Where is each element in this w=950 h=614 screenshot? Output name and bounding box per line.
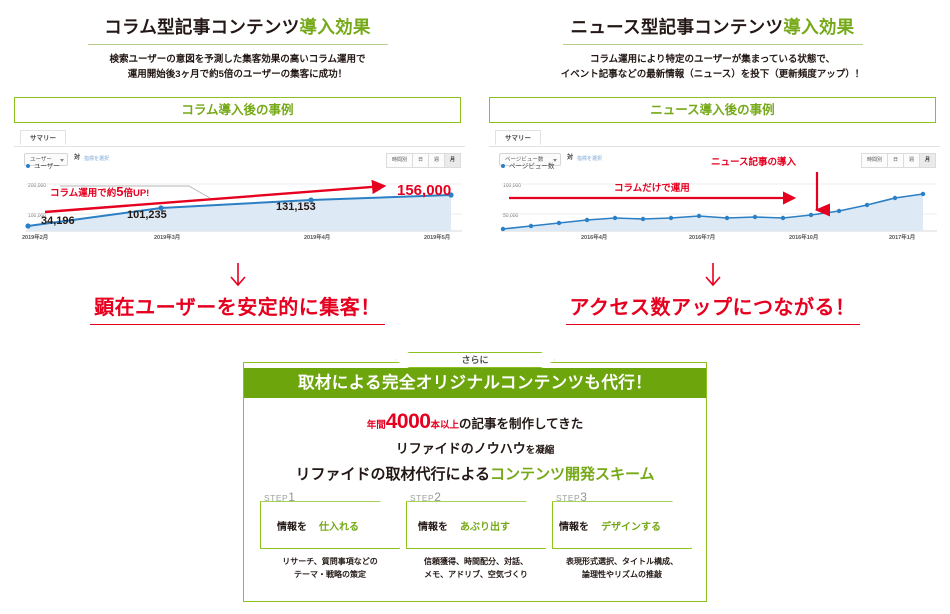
step-3-title: 情報をデザインする <box>559 518 673 533</box>
step-3-desc-line1: 表現形式選択、タイトル構成、 <box>552 556 692 569</box>
section-title-main: コラム型記事コンテンツ <box>104 17 299 37</box>
step-3-desc-line2: 論理性やリズムの推敲 <box>552 569 692 582</box>
block-body: 年間4000本以上の記事を制作してきた リファイドのノウハウを凝縮 リファイドの… <box>244 398 706 600</box>
chevron-down-icon <box>60 159 64 162</box>
line2-main: リファイドのノウハウ <box>396 441 526 456</box>
analytics-widget-left: サマリー ユーザー 対 指標を選択 時間別 日 週 月 ユーザー 200,000… <box>14 130 465 255</box>
segment-week[interactable]: 週 <box>904 153 920 168</box>
data-label-mar: 101,235 <box>127 209 167 221</box>
x-tick-1: 2016年7月 <box>689 233 715 241</box>
vs-label: 対 <box>74 152 80 161</box>
ribbon-label: さらに <box>395 352 555 368</box>
section-title-main: ニュース型記事コンテンツ <box>571 17 784 37</box>
step-1: STEP1 情報を仕入れる リサーチ、質問事項などの テーマ・戦略の策定 <box>260 490 400 582</box>
step-2-box: 情報をあぶり出す <box>406 501 546 549</box>
step-2-title-plain: 情報を <box>418 522 448 533</box>
data-label-feb: 34,196 <box>41 215 75 227</box>
line1-number: 4000 <box>386 410 431 433</box>
title-divider <box>88 44 388 45</box>
conclusion-right: アクセス数アップにつながる！ <box>475 262 950 325</box>
step-1-desc-line2: テーマ・戦略の策定 <box>260 569 400 582</box>
chart-end-value-left: 156,000 <box>397 182 451 199</box>
block-line-2: リファイドのノウハウを凝縮 <box>256 438 694 457</box>
lead-line-1: コラム運用により特定のユーザーが集まっている状態で、 <box>475 53 950 68</box>
metric-compare-link[interactable]: 指標を選択 <box>577 155 602 162</box>
segment-hourly[interactable]: 時間別 <box>861 153 888 168</box>
lead-line-2: イベント記事などの最新情報（ニュース）を投下（更新頻度アップ）！ <box>475 68 950 83</box>
segment-month[interactable]: 月 <box>920 153 936 168</box>
step-2-desc: 信頼獲得、時間配分、対話、 メモ、アドリブ、空気づくり <box>406 556 546 582</box>
step-3-number-label: STEP3 <box>552 490 692 501</box>
step-2-title-accent: あぶり出す <box>460 522 510 533</box>
step-1-title: 情報を仕入れる <box>277 518 371 533</box>
line1-pre: 年間 <box>367 420 386 431</box>
segment-month[interactable]: 月 <box>445 153 461 168</box>
step-1-box: 情報を仕入れる <box>260 501 400 549</box>
line-chart-left <box>14 168 465 232</box>
panel-column-article: コラム型記事コンテンツ導入効果 検索ユーザーの意図を予測した集客効果の高いコラム… <box>0 0 475 352</box>
step-3-title-plain: 情報を <box>559 522 589 533</box>
conclusion-left: 顕在ユーザーを安定的に集客！ <box>0 262 475 325</box>
step-3-box: 情報をデザインする <box>552 501 692 549</box>
analytics-tabbar: サマリー <box>14 130 465 147</box>
case-box-left: コラム導入後の事例 <box>14 97 461 123</box>
block-line-3: リファイドの取材代行によるコンテンツ開発スキーム <box>256 463 694 484</box>
step-1-number-label: STEP1 <box>260 490 400 501</box>
x-tick-0: 2019年2月 <box>22 233 48 241</box>
case-box-right: ニュース導入後の事例 <box>489 97 936 123</box>
panel-news-article: ニュース型記事コンテンツ導入効果 コラム運用により特定のユーザーが集まっている状… <box>475 0 950 352</box>
segment-day[interactable]: 日 <box>888 153 904 168</box>
page-title-left: コラム型記事コンテンツ導入効果 <box>0 14 475 39</box>
steps-container: STEP1 情報を仕入れる リサーチ、質問事項などの テーマ・戦略の策定 STE… <box>256 490 694 600</box>
annotation-text-pre: コラム運用で約 <box>50 188 116 199</box>
step-1-title-accent: 仕入れる <box>319 522 359 533</box>
x-tick-2: 2016年10月 <box>789 233 818 241</box>
section-lead-right: コラム運用により特定のユーザーが集まっている状態で、 イベント記事などの最新情報… <box>475 53 950 82</box>
step-3: STEP3 情報をデザインする 表現形式選択、タイトル構成、 論理性やリズムの推… <box>552 490 692 582</box>
vs-label: 対 <box>567 152 573 161</box>
step-2-title: 情報をあぶり出す <box>418 518 522 533</box>
segment-day[interactable]: 日 <box>413 153 429 168</box>
section-title-accent: 導入効果 <box>300 17 371 37</box>
tab-summary[interactable]: サマリー <box>495 130 541 145</box>
step-1-title-plain: 情報を <box>277 522 307 533</box>
timerange-segment-group: 時間別 日 週 月 <box>861 153 936 168</box>
line1-post: の記事を制作してきた <box>459 417 583 431</box>
line-chart-right <box>489 168 940 232</box>
case-label-left: コラム導入後の事例 <box>15 98 460 122</box>
segment-hourly[interactable]: 時間別 <box>386 153 413 168</box>
down-arrow-icon <box>223 262 253 288</box>
chart-annotation-arrow-right: コラムだけで運用 <box>614 180 690 194</box>
x-tick-2: 2019年4月 <box>304 233 330 241</box>
line3-plain: リファイドの取材代行による <box>295 466 490 483</box>
lead-line-1: 検索ユーザーの意図を予測した集客効果の高いコラム運用で <box>0 53 475 68</box>
original-content-block: さらに 取材による完全オリジナルコンテンツも代行！ 年間4000本以上の記事を制… <box>243 362 707 602</box>
metric-compare-link[interactable]: 指標を選択 <box>84 155 109 162</box>
chart-annotation-drop-right: ニュース記事の導入 <box>711 154 796 168</box>
down-arrow-icon <box>698 262 728 288</box>
section-title-accent: 導入効果 <box>783 17 854 37</box>
chart-plot-right: コラムだけで運用 ニュース記事の導入 <box>489 168 940 232</box>
step-3-title-accent: デザインする <box>601 522 661 533</box>
line1-mid: 本以上 <box>430 420 459 431</box>
x-tick-3: 2019年5月 <box>424 233 450 241</box>
segment-week[interactable]: 週 <box>429 153 445 168</box>
block-headline: 取材による完全オリジナルコンテンツも代行！ <box>244 368 706 398</box>
annotation-text-post: 倍UP! <box>123 188 149 199</box>
x-tick-3: 2017年1月 <box>889 233 915 241</box>
chart-plot-left: コラム運用で約5倍UP! 156,000 34,196 101,235 131,… <box>14 168 465 232</box>
line2-sub: を凝縮 <box>526 445 555 456</box>
conclusion-text-right: アクセス数アップにつながる！ <box>566 291 860 325</box>
step-1-desc: リサーチ、質問事項などの テーマ・戦略の策定 <box>260 556 400 582</box>
page-title-right: ニュース型記事コンテンツ導入効果 <box>475 14 950 39</box>
x-tick-0: 2016年4月 <box>581 233 607 241</box>
step-2-number-label: STEP2 <box>406 490 546 501</box>
block-line-1: 年間4000本以上の記事を制作してきた <box>256 408 694 435</box>
line3-accent: コンテンツ開発スキーム <box>490 466 655 483</box>
title-divider <box>563 44 863 45</box>
tab-summary[interactable]: サマリー <box>20 130 66 145</box>
conclusion-text-left: 顕在ユーザーを安定的に集客！ <box>90 291 385 325</box>
step-2-desc-line1: 信頼獲得、時間配分、対話、 <box>406 556 546 569</box>
step-3-desc: 表現形式選択、タイトル構成、 論理性やリズムの推敲 <box>552 556 692 582</box>
analytics-widget-right: サマリー ページビュー数 対 指標を選択 時間別 日 週 月 ページビュー数 1… <box>489 130 940 255</box>
lead-line-2: 運用開始後3ヶ月で約5倍のユーザーの集客に成功！ <box>0 68 475 83</box>
step-1-desc-line1: リサーチ、質問事項などの <box>260 556 400 569</box>
case-label-right: ニュース導入後の事例 <box>490 98 935 122</box>
timerange-segment-group: 時間別 日 週 月 <box>386 153 461 168</box>
chart-xaxis-left: 2019年2月 2019年3月 2019年4月 2019年5月 <box>14 233 465 245</box>
analytics-tabbar: サマリー <box>489 130 940 147</box>
x-tick-1: 2019年3月 <box>154 233 180 241</box>
chart-annotation-left: コラム運用で約5倍UP! <box>50 184 149 199</box>
section-lead-left: 検索ユーザーの意図を予測した集客効果の高いコラム運用で 運用開始後3ヶ月で約5倍… <box>0 53 475 82</box>
data-label-apr: 131,153 <box>276 201 316 213</box>
chart-xaxis-right: 2016年4月 2016年7月 2016年10月 2017年1月 <box>489 233 940 245</box>
step-2-desc-line2: メモ、アドリブ、空気づくり <box>406 569 546 582</box>
step-2: STEP2 情報をあぶり出す 信頼獲得、時間配分、対話、 メモ、アドリブ、空気づ… <box>406 490 546 582</box>
